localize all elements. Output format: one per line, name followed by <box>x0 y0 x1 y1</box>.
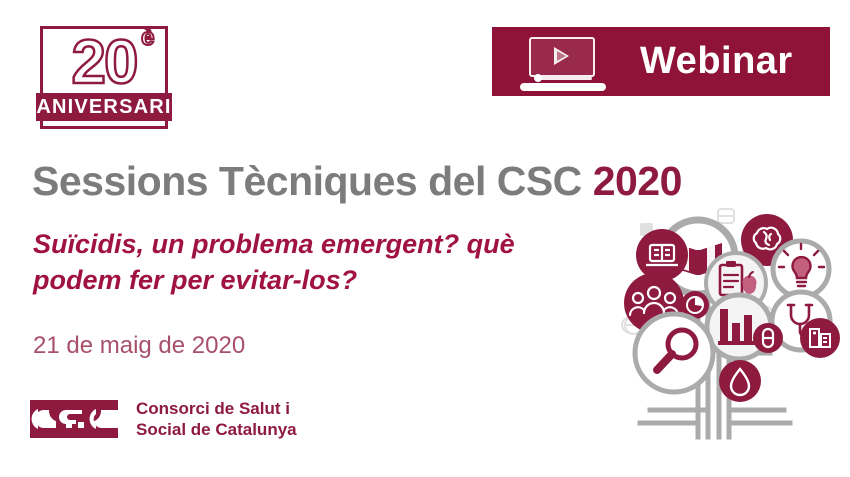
webinar-label: Webinar <box>640 40 793 83</box>
laptop-base <box>520 83 606 91</box>
webinar-banner: Webinar <box>492 27 830 96</box>
csc-wordmark-line2: Social de Catalunya <box>136 419 297 440</box>
csc-logo: Consorci de Salut i Social de Catalunya <box>30 396 297 442</box>
knowledge-tree-illustration <box>612 205 850 467</box>
anniversary-band: ANIVERSARI <box>36 93 172 121</box>
progress-knob <box>534 74 542 82</box>
progress-bar <box>534 77 592 80</box>
csc-wordmark: Consorci de Salut i Social de Catalunya <box>136 398 297 441</box>
anniversary-number: 20è <box>72 32 137 94</box>
play-triangle-inner <box>557 51 566 61</box>
page-title: Sessions Tècniques del CSC 2020 <box>32 158 682 205</box>
anniversary-superscript: è <box>141 26 152 50</box>
laptop-play-icon <box>520 33 606 91</box>
page-title-year: 2020 <box>593 158 682 204</box>
csc-wordmark-line1: Consorci de Salut i <box>136 398 297 419</box>
anniversary-number-wrap: 20è <box>40 32 168 94</box>
bus-icon <box>718 209 734 223</box>
session-subtitle: Suïcidis, un problema emergent? què pode… <box>33 227 593 298</box>
anniversary-logo: 20è ANIVERSARI <box>40 26 168 129</box>
csc-monogram-icon <box>30 396 122 442</box>
page-title-main: Sessions Tècniques del CSC <box>32 158 593 204</box>
event-date: 21 de maig de 2020 <box>33 332 245 360</box>
anniversary-label: ANIVERSARI <box>36 96 171 119</box>
